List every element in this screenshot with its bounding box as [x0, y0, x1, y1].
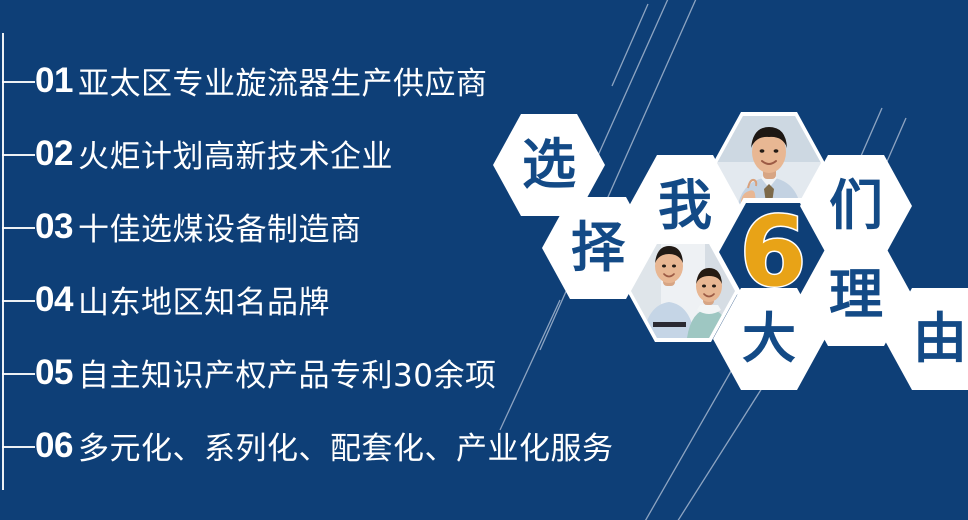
hexagon-label: 们: [829, 179, 883, 233]
hexagon-label: 由: [913, 312, 967, 366]
portrait-businessman: [717, 116, 821, 210]
hexagon-label: 大: [742, 312, 796, 366]
promo-banner: 01 亚太区专业旋流器生产供应商 02 火炬计划高新技术企业 03 十佳选煤设备…: [0, 0, 968, 520]
hexagon-label: 我: [658, 179, 712, 233]
hexagon-cluster: 选 择 我: [0, 0, 968, 520]
hexagon-label: 6: [740, 204, 807, 300]
hexagon-label: 理: [829, 268, 883, 322]
hexagon-label: 择: [571, 221, 625, 275]
businessman-illustration: [717, 116, 821, 210]
hexagon-label: 选: [522, 138, 576, 192]
